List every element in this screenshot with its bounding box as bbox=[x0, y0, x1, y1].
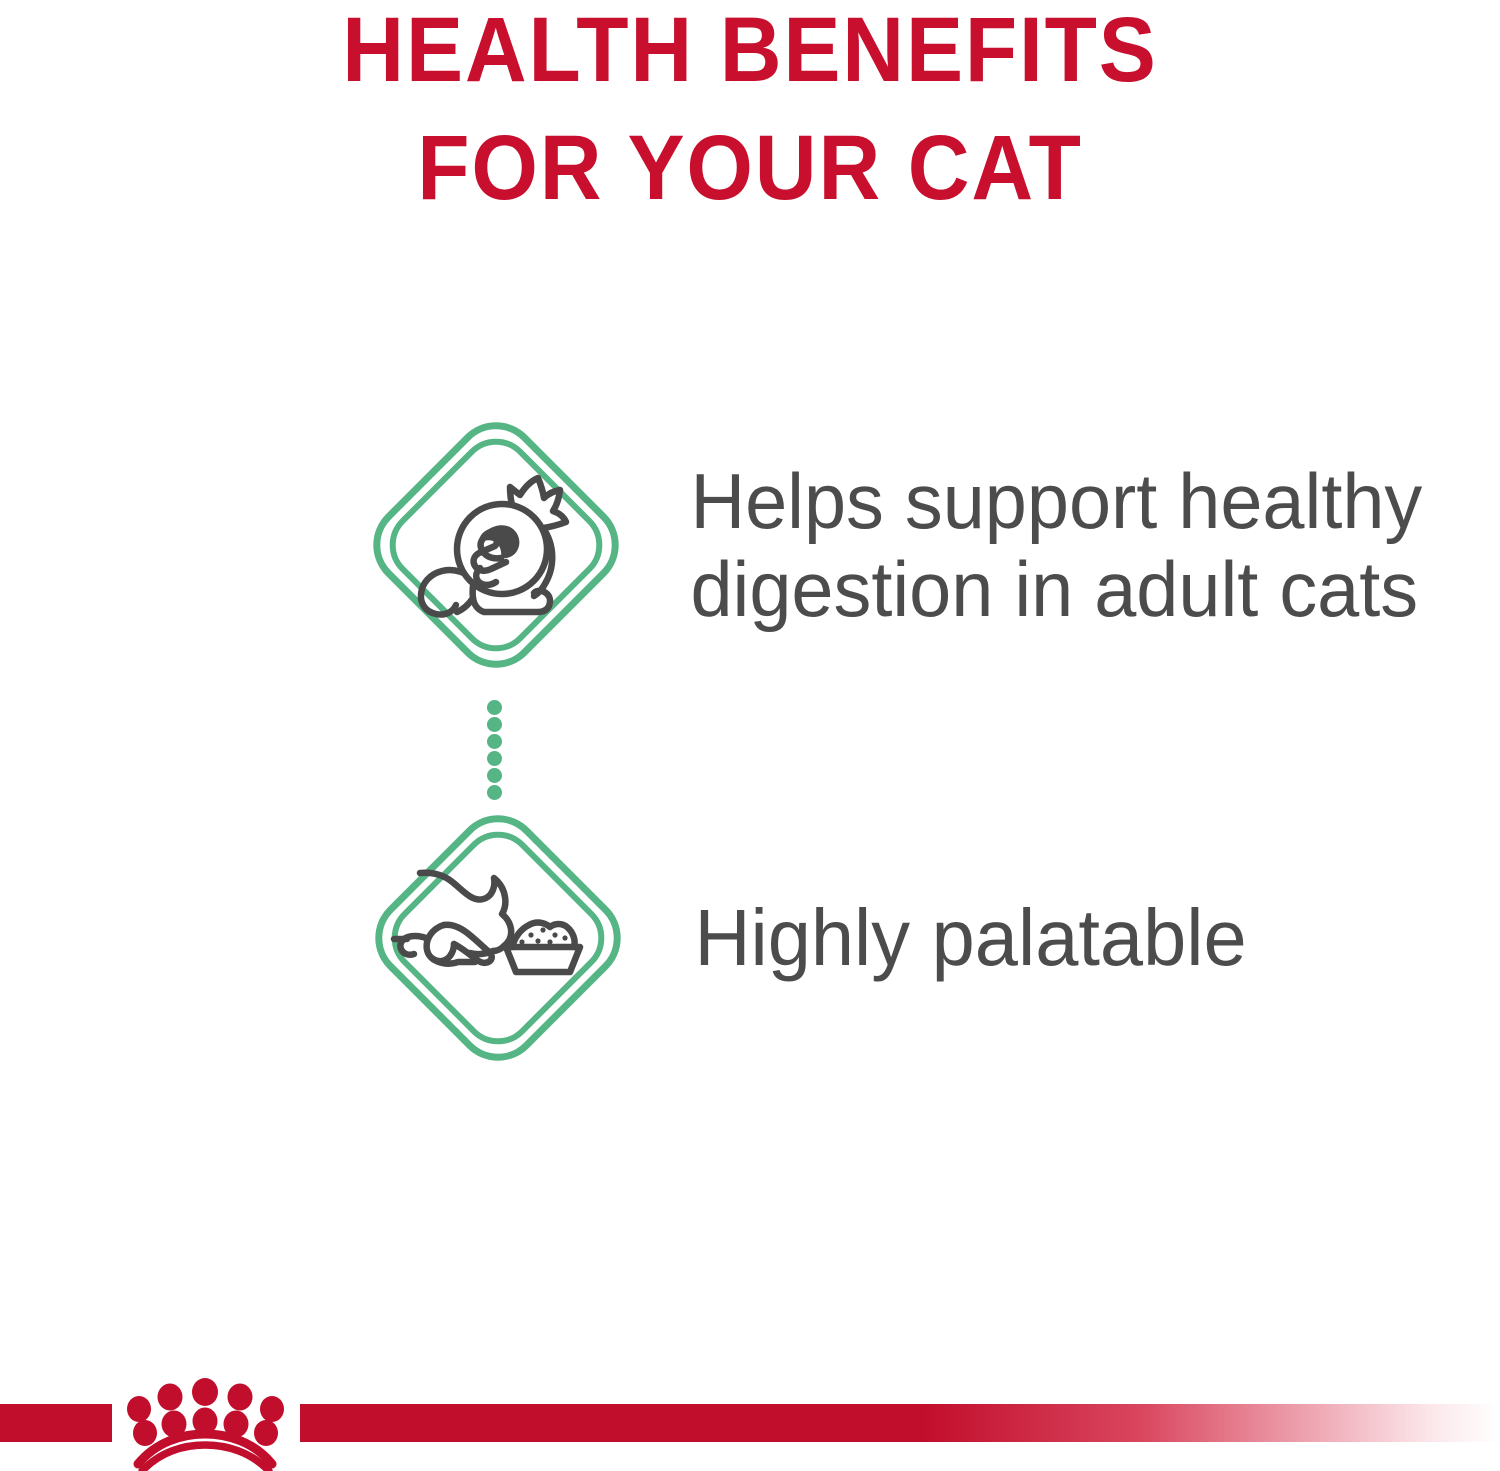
benefit-row: Helps support healthy digestion in adult… bbox=[352, 400, 1482, 690]
cat-digestion-icon bbox=[352, 401, 640, 689]
connector-dot bbox=[487, 751, 502, 766]
title-line-2: FOR YOUR CAT bbox=[53, 98, 1448, 216]
connector-dot bbox=[487, 734, 502, 749]
footer-bar-right bbox=[300, 1404, 1500, 1442]
benefit-row: Highly palatable bbox=[352, 795, 1482, 1080]
connector-dot bbox=[487, 768, 502, 783]
footer-bar-left bbox=[0, 1404, 112, 1442]
poster-canvas: HEALTH BENEFITS FOR YOUR CAT bbox=[0, 0, 1500, 1471]
connector-dot bbox=[487, 700, 502, 715]
benefit-text: Highly palatable bbox=[644, 894, 1457, 982]
royal-canin-crown-logo bbox=[112, 1376, 302, 1471]
title-line-1: HEALTH BENEFITS bbox=[53, 0, 1448, 98]
benefit-text: Helps support healthy digestion in adult… bbox=[640, 457, 1457, 633]
page-title: HEALTH BENEFITS FOR YOUR CAT bbox=[0, 0, 1500, 216]
dotted-connector bbox=[487, 700, 509, 798]
cat-eating-bowl-icon bbox=[352, 796, 644, 1080]
connector-dot bbox=[487, 717, 502, 732]
